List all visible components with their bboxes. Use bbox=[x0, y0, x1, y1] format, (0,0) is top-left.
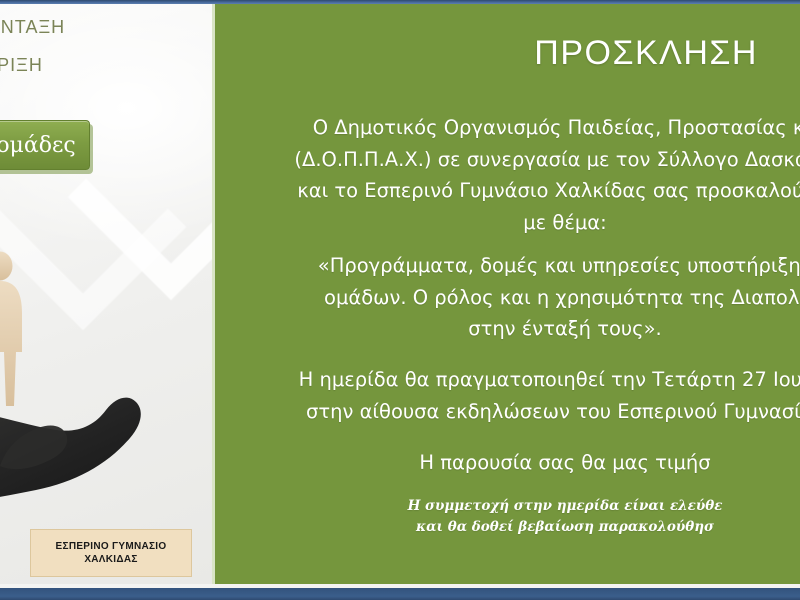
school-name-line-1: ΕΣΠΕΡΙΝΟ ΓΥΜΝΑΣΙΟ bbox=[56, 540, 167, 554]
footnote-line-2: και θα δοθεί βεβαίωση παρακολούθησ bbox=[215, 517, 800, 538]
invitation-title: ΠΡΟΣΚΛΗΣΗ bbox=[534, 34, 758, 73]
when-line-1: Η ημερίδα θα πραγματοποιηθεί την Τετάρτη… bbox=[215, 364, 800, 396]
invitation-footnote: Η συμμετοχή στην ημερίδα είναι ελεύθε κα… bbox=[215, 496, 800, 538]
omades-button-label: ομάδες bbox=[0, 133, 76, 158]
intro-line-4: με θέμα: bbox=[215, 207, 800, 239]
school-name-box: ΕΣΠΕΡΙΝΟ ΓΥΜΝΑΣΙΟ ΧΑΛΚΙΔΑΣ bbox=[30, 529, 192, 577]
left-panel: ΣΗ | ΕΝΤΑΞΗ ΟΣΤΗΡΙΞΗ ομάδες bbox=[0, 4, 212, 584]
invitation-poster: ΣΗ | ΕΝΤΑΞΗ ΟΣΤΗΡΙΞΗ ομάδες bbox=[0, 0, 800, 600]
omades-button[interactable]: ομάδες bbox=[0, 120, 90, 170]
invitation-theme-paragraph: «Προγράμματα, δομές και υπηρεσίες υποστή… bbox=[215, 250, 800, 345]
person-figure-tan-icon bbox=[0, 252, 22, 407]
hand-holding-people-illustration bbox=[0, 234, 210, 534]
theme-line-3: στην ένταξή τους». bbox=[215, 313, 800, 345]
invitation-datetime-paragraph: Η ημερίδα θα πραγματοποιηθεί την Τετάρτη… bbox=[215, 364, 800, 427]
theme-line-2: ομάδων. Ο ρόλος και η χρησιμότητα της Δι… bbox=[215, 282, 800, 314]
footnote-line-1: Η συμμετοχή στην ημερίδα είναι ελεύθε bbox=[215, 496, 800, 517]
left-panel-header: ΣΗ | ΕΝΤΑΞΗ ΟΣΤΗΡΙΞΗ bbox=[0, 18, 212, 74]
school-name-line-2: ΧΑΛΚΙΔΑΣ bbox=[84, 553, 137, 567]
browser-chrome-top-strip bbox=[0, 0, 800, 4]
intro-line-3: και το Εσπερινό Γυμνάσιο Χαλκίδας σας πρ… bbox=[215, 175, 800, 207]
invitation-intro-paragraph: Ο Δημοτικός Οργανισμός Παιδείας, Προστασ… bbox=[215, 112, 800, 238]
theme-line-1: «Προγράμματα, δομές και υπηρεσίες υποστή… bbox=[215, 250, 800, 282]
browser-chrome-bottom-strip bbox=[0, 588, 800, 600]
honor-line: Η παρουσία σας θα μας τιμήσ bbox=[215, 447, 800, 479]
invitation-green-panel: ΠΡΟΣΚΛΗΣΗ Ο Δημοτικός Οργανισμός Παιδεία… bbox=[215, 4, 800, 584]
left-header-line-2: ΟΣΤΗΡΙΞΗ bbox=[0, 56, 212, 74]
when-line-2: στην αίθουσα εκδηλώσεων του Εσπερινού Γυ… bbox=[215, 396, 800, 428]
intro-line-1: Ο Δημοτικός Οργανισμός Παιδείας, Προστασ… bbox=[215, 112, 800, 144]
invitation-honor-paragraph: Η παρουσία σας θα μας τιμήσ bbox=[215, 447, 800, 479]
intro-line-2: (Δ.Ο.Π.Π.Α.Χ.) σε συνεργασία με τον Σύλλ… bbox=[215, 144, 800, 176]
left-header-line-1: ΣΗ | ΕΝΤΑΞΗ bbox=[0, 18, 212, 36]
panel-divider bbox=[212, 4, 215, 584]
